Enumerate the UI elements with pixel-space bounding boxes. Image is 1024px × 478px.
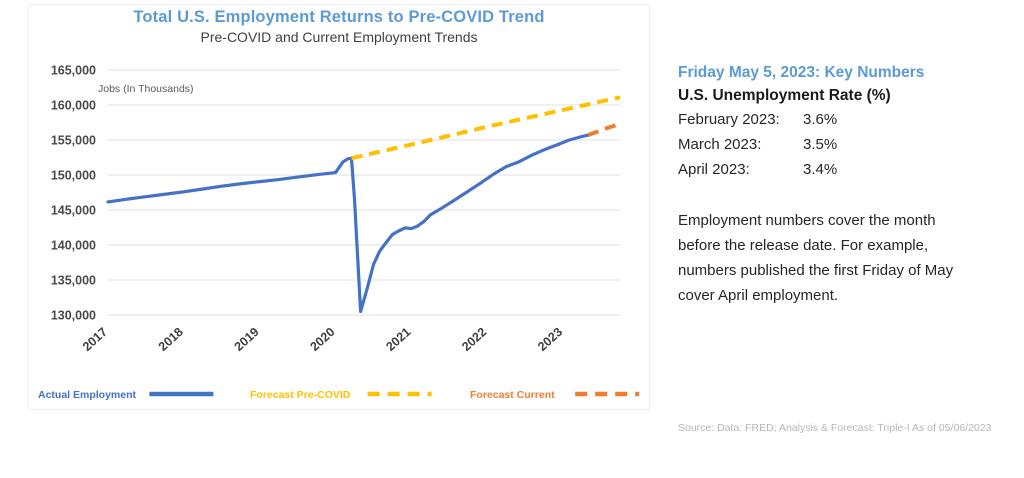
- unemployment-rate-heading: U.S. Unemployment Rate (%): [678, 87, 891, 105]
- legend-label: Actual Employment: [38, 389, 137, 401]
- series-line-forecast_current: [588, 124, 620, 135]
- x-axis-tick-label: 2018: [156, 325, 186, 354]
- y-axis-tick-label: 130,000: [51, 309, 96, 323]
- source-attribution: Source: Data: FRED; Analysis & Forecast:…: [678, 421, 1008, 436]
- x-axis-tick-labels: 2017201820192020202120222023: [80, 325, 565, 354]
- legend-label: Forecast Current: [470, 389, 555, 401]
- y-axis-tick-label: 150,000: [51, 169, 96, 183]
- rate-value: 3.4%: [803, 161, 837, 178]
- data-series: [108, 97, 620, 311]
- unemployment-rate-row: April 2023:3.4%: [678, 161, 928, 178]
- y-axis-tick-label: 145,000: [51, 204, 96, 218]
- x-axis-tick-label: 2022: [459, 325, 489, 354]
- rate-value: 3.5%: [803, 136, 837, 153]
- y-axis-tick-label: 135,000: [51, 274, 96, 288]
- unemployment-rate-row: February 2023:3.6%: [678, 111, 928, 128]
- rate-month-label: March 2023:: [678, 136, 803, 153]
- unemployment-rate-row: March 2023:3.5%: [678, 136, 928, 153]
- chart-legend: Actual EmploymentForecast Pre-COVIDForec…: [38, 389, 639, 401]
- rate-value: 3.6%: [803, 111, 837, 128]
- chart-panel: Total U.S. Employment Returns to Pre-COV…: [0, 0, 660, 478]
- y-axis-tick-label: 155,000: [51, 134, 96, 148]
- y-axis-tick-labels: 130,000135,000140,000145,000150,000155,0…: [51, 64, 96, 323]
- legend-label: Forecast Pre-COVID: [250, 389, 351, 401]
- rate-month-label: February 2023:: [678, 111, 803, 128]
- explanatory-note: Employment numbers cover the month befor…: [678, 208, 978, 308]
- x-axis-tick-label: 2019: [232, 325, 262, 354]
- y-axis-tick-label: 165,000: [51, 64, 96, 78]
- key-numbers-panel: Friday May 5, 2023: Key Numbers U.S. Une…: [672, 0, 1024, 478]
- series-line-forecast_precovid: [351, 97, 620, 158]
- y-axis-tick-label: 140,000: [51, 239, 96, 253]
- y-axis-tick-label: 160,000: [51, 99, 96, 113]
- x-axis-tick-label: 2023: [535, 325, 565, 354]
- rate-month-label: April 2023:: [678, 161, 803, 178]
- y-axis-label: Jobs (In Thousands): [98, 83, 194, 95]
- employment-line-chart: 130,000135,000140,000145,000150,000155,0…: [0, 0, 660, 478]
- x-axis-tick-label: 2017: [80, 325, 110, 354]
- x-axis-tick-label: 2020: [308, 325, 338, 354]
- series-line-actual: [108, 135, 588, 311]
- key-numbers-heading: Friday May 5, 2023: Key Numbers: [678, 64, 924, 82]
- x-axis-tick-label: 2021: [383, 325, 413, 354]
